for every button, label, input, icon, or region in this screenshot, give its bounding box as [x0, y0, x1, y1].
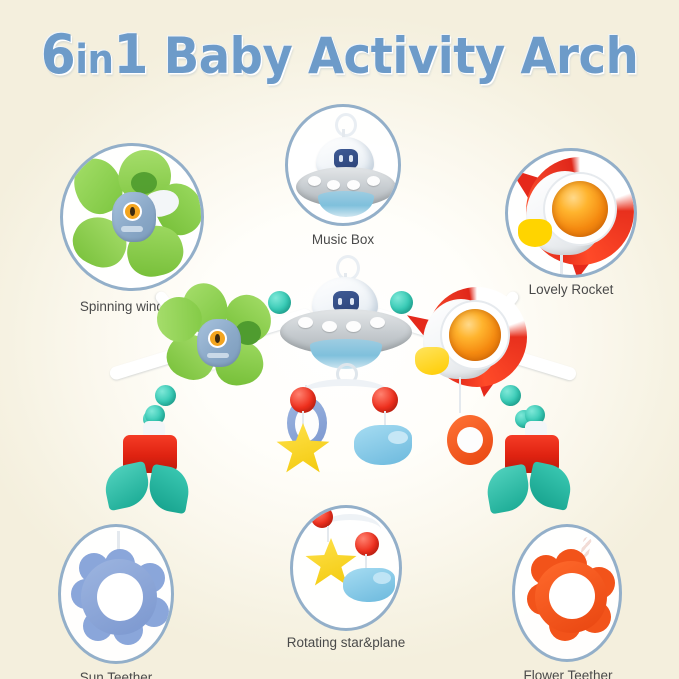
music-box-art: [288, 107, 401, 226]
windmill-eye-icon: [210, 331, 225, 346]
callout-music-box: Music Box: [285, 104, 401, 226]
title-one: 1: [114, 23, 148, 86]
ufo-button: [367, 176, 380, 186]
callout-sun-teether: Sun Teether: [58, 524, 174, 664]
callout-label-sun-teether: Sun Teether: [0, 670, 236, 679]
hanging-hook-icon: [335, 113, 357, 137]
ufo-button: [308, 176, 321, 186]
astronaut-face: [334, 149, 358, 169]
flower-teether-shape: [529, 553, 613, 639]
teether-hole: [97, 573, 143, 621]
callout-circle-music-box: [285, 104, 401, 226]
callout-circle-sun-teether: [58, 524, 174, 664]
title-in: in: [75, 37, 113, 83]
windmill-eye-icon: [125, 204, 140, 219]
callout-circle-star-plane: [290, 505, 402, 631]
ufo-button: [346, 321, 361, 332]
ufo-button: [347, 180, 360, 190]
rocket-flame: [518, 219, 552, 247]
rocket-lens: [449, 309, 501, 361]
ufo-button: [322, 321, 337, 332]
product-right-rattle: [485, 405, 595, 515]
ufo-button: [370, 317, 385, 328]
product-left-rattle: [103, 405, 213, 515]
ufo-button: [327, 180, 340, 190]
product-rocket: [403, 285, 533, 405]
product-infographic: 6in1 Baby Activity Arch Spinning windmil…: [0, 0, 679, 679]
teal-claw: [101, 461, 153, 511]
flower-teether-string: [459, 377, 461, 413]
star-plane-art: [293, 505, 402, 631]
rocket-lens: [552, 181, 608, 237]
windmill-dark-leaf: [131, 172, 157, 194]
callout-rotating-star-plane: Rotating star&plane: [290, 505, 402, 631]
flower-teether-art: [515, 527, 622, 662]
mobile-ball: [355, 532, 379, 556]
callout-flower-teether: Flower Teether: [512, 524, 622, 662]
teal-claw: [483, 464, 532, 515]
teal-claw: [525, 461, 575, 511]
ufo-underside: [318, 191, 374, 217]
ufo-button: [298, 317, 313, 328]
teal-claw: [145, 464, 192, 514]
sun-teether-art: [61, 527, 174, 664]
sun-teether-shape: [75, 553, 163, 641]
astronaut-eye-icon: [349, 155, 353, 162]
plane-wing: [373, 572, 391, 584]
teether-hole: [549, 573, 595, 619]
product-photo: [85, 255, 595, 520]
astronaut-eye-icon: [350, 298, 354, 305]
mobile-ball: [290, 387, 316, 413]
mobile-ball: [372, 387, 398, 413]
astronaut-eye-icon: [339, 155, 343, 162]
teether-hole: [457, 427, 483, 453]
windmill-hub-mouth: [207, 353, 229, 358]
product-mobile: [270, 373, 420, 483]
product-windmill: [153, 283, 283, 409]
callout-label-flower-teether: Flower Teether: [448, 668, 679, 679]
callout-label-star-plane: Rotating star&plane: [226, 635, 466, 650]
astronaut-eye-icon: [338, 298, 342, 305]
windmill-hub-mouth: [121, 226, 143, 232]
title-number: 6: [41, 23, 75, 86]
title-rest: Baby Activity Arch: [164, 27, 639, 85]
page-title: 6in1 Baby Activity Arch: [24, 26, 655, 89]
star-string: [327, 526, 329, 542]
rocket-flame: [415, 347, 449, 375]
product-music-box: [270, 255, 420, 375]
callout-label-music-box: Music Box: [223, 232, 463, 247]
plane-wing: [388, 431, 408, 444]
yellow-star: [276, 423, 330, 475]
callout-circle-flower-teether: [512, 524, 622, 662]
